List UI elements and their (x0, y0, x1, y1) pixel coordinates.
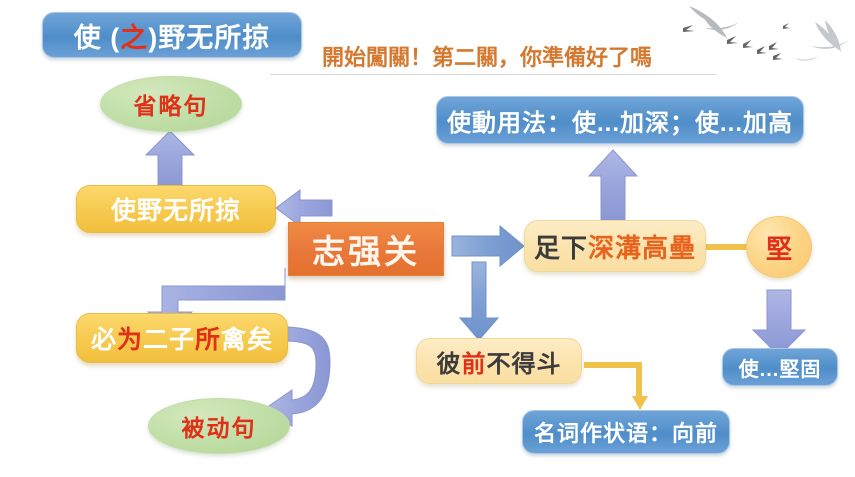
arrow-center-to-right-top (452, 226, 524, 266)
slide-canvas: 使 (之)野无所掠 開始闖關！第二關，你準備好了嗎 省略句 使野无所掠 必为二子… (0, 0, 855, 477)
header-banner: 使 (之)野无所掠 (42, 12, 302, 58)
connector-gold-to-keyword (704, 244, 748, 250)
sentence-right-bottom: 彼前不得斗 (416, 338, 582, 384)
arrow-up-to-ellipsis-tag (146, 131, 194, 190)
result-firm-box: 使...堅固 (722, 348, 838, 386)
title-underline (270, 74, 716, 75)
arrow-center-to-left-top (276, 190, 332, 226)
seg-suo: 所 (195, 326, 221, 354)
banner-part-pre: 使 ( (74, 23, 121, 53)
seg-qinyi: 禽矣 (221, 326, 273, 354)
seg-bi: 彼 (437, 351, 462, 378)
center-node-zhiqiangguan: 志强关 (288, 222, 444, 276)
sentence-right-top: 足下深溝高壘 (524, 220, 706, 272)
header-banner-text: 使 (之)野无所掠 (74, 16, 271, 55)
sentence-right-top-text: 足下深溝高壘 (534, 228, 696, 265)
connector-gold-to-adverbial (584, 362, 648, 410)
sentence-right-bottom-text: 彼前不得斗 (437, 344, 562, 379)
sentence-left-bottom: 必为二子所禽矣 (76, 313, 288, 363)
banner-part-post: )野无所掠 (148, 23, 270, 53)
seg-bi: 必 (91, 326, 117, 354)
result-adverbial-box: 名词作状语：向前 (522, 410, 730, 454)
seg-erzi: 二子 (143, 326, 195, 354)
seg-budedou: 不得斗 (487, 351, 562, 378)
seg-zuxia: 足下 (534, 233, 588, 263)
page-title: 開始闖關！第二關，你準備好了嗎 (322, 40, 652, 72)
ink-birds-icon (665, 0, 855, 70)
keyword-circle-jian: 堅 (746, 216, 812, 278)
sentence-left-top: 使野无所掠 (76, 185, 276, 233)
tag-passive-sentence: 被动句 (148, 398, 290, 454)
arrow-up-to-usage-note (589, 150, 637, 222)
sentence-left-bottom-text: 必为二子所禽矣 (91, 320, 273, 356)
seg-shengougaolei: 深溝高壘 (588, 233, 696, 263)
seg-wei: 为 (117, 326, 143, 354)
arrow-down-to-firm-result (753, 290, 805, 356)
seg-qian: 前 (462, 351, 487, 378)
usage-note-box: 使動用法：使...加深；使...加高 (436, 96, 804, 144)
arrow-down-to-bottom-sentence (460, 262, 498, 340)
banner-part-mid: 之 (120, 23, 148, 53)
tag-ellipsis-sentence: 省略句 (100, 76, 242, 132)
